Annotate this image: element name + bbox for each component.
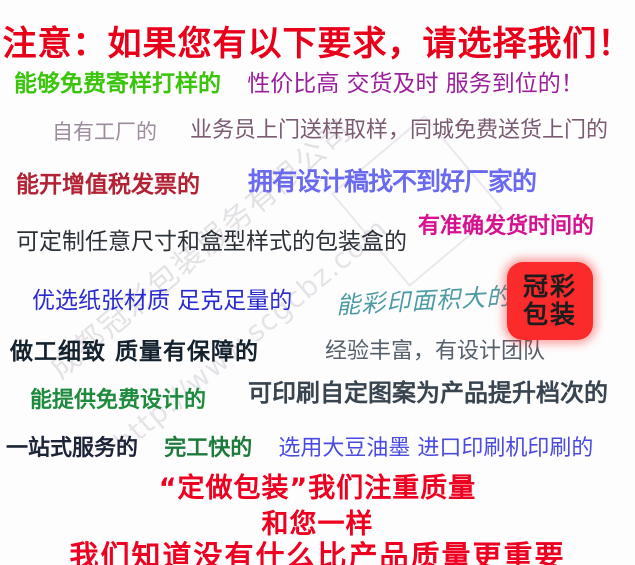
row-salesman-delivery: 业务员上门送样取样，同城免费送货上门的 — [190, 112, 608, 144]
tag-one-stop-service: 一站式服务的 — [6, 430, 138, 462]
tag-premium-paper: 优选纸张材质 足克足量的 — [32, 281, 292, 315]
headline: 注意：如果您有以下要求，请选择我们！ — [0, 16, 635, 65]
row-custom-size: 可定制任意尺寸和盒型样式的包装盒的 — [16, 222, 407, 256]
row-experience: 经验丰富，有设计团队 — [325, 333, 545, 365]
row-free-design: 能提供免费设计的 — [30, 382, 206, 414]
tag-fast-completion: 完工快的 — [164, 430, 252, 462]
row-sampling: 能够免费寄样打样的 性价比高 交货及时 服务到位的！ — [14, 64, 584, 98]
stamp-line-2: 包装 — [523, 301, 577, 329]
tag-accurate-ship-time: 有准确发货时间的 — [418, 208, 594, 240]
row-own-factory: 自有工厂的 — [52, 116, 157, 146]
tag-value-delivery-service: 性价比高 交货及时 服务到位的！ — [247, 64, 584, 98]
tag-experienced-design-team: 经验丰富，有设计团队 — [325, 333, 545, 365]
row-quality: 做工细致 质量有保障的 — [10, 332, 259, 366]
promo-poster: 成都冠彩包装服务有限公司 http://www.scgcbz.com 注意：如果… — [0, 0, 635, 565]
row-design-draft: 拥有设计稿找不到好厂家的 — [248, 162, 536, 198]
tag-soy-ink-imported-press: 选用大豆油墨 进口印刷机印刷的 — [278, 430, 593, 462]
stamp-line-1: 冠彩 — [523, 273, 577, 301]
tag-fine-workmanship-quality: 做工细致 质量有保障的 — [10, 332, 259, 366]
tag-custom-size-boxes: 可定制任意尺寸和盒型样式的包装盒的 — [16, 222, 407, 256]
tag-free-design: 能提供免费设计的 — [30, 382, 206, 414]
tag-vat-invoice: 能开增值税发票的 — [16, 165, 200, 199]
tag-has-design-no-factory: 拥有设计稿找不到好厂家的 — [248, 162, 536, 198]
closing-line-3: 我们知道没有什么比产品质量更重要 — [0, 533, 635, 565]
calligraphy-text: 能彩印面积大的 — [335, 276, 512, 320]
row-onestop: 一站式服务的 完工快的 选用大豆油墨 进口印刷机印刷的 — [6, 430, 593, 462]
row-invoice: 能开增值税发票的 — [16, 165, 200, 199]
company-stamp-logo: 冠彩 包装 — [507, 262, 593, 340]
row-paper: 优选纸张材质 足克足量的 — [32, 281, 292, 315]
tag-own-factory: 自有工厂的 — [52, 116, 157, 146]
row-delivery-time: 有准确发货时间的 — [418, 208, 594, 240]
tag-free-sampling: 能够免费寄样打样的 — [14, 64, 221, 98]
row-custom-print: 可印刷自定图案为产品提升档次的 — [248, 373, 608, 408]
closing-line-1: “定做包装”我们注重质量 — [0, 466, 635, 505]
tag-salesman-door-service: 业务员上门送样取样，同城免费送货上门的 — [190, 112, 608, 144]
tag-custom-pattern-printing: 可印刷自定图案为产品提升档次的 — [248, 373, 608, 408]
